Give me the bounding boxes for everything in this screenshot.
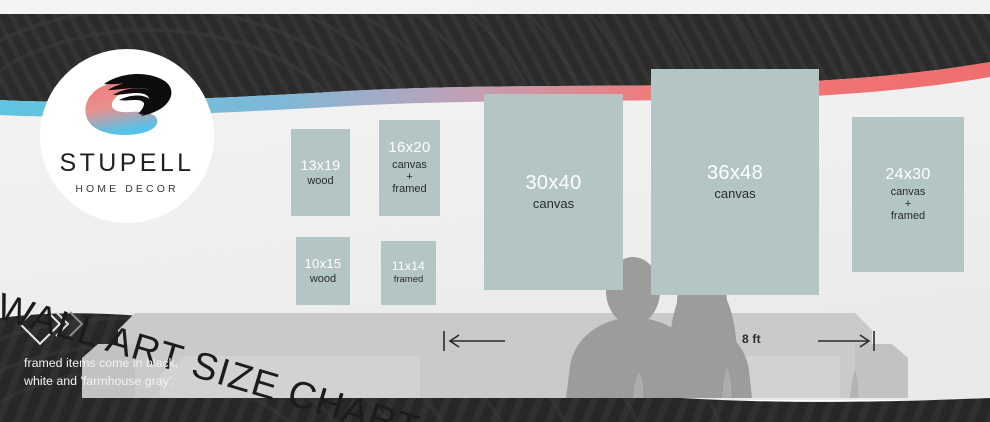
frame-size-label: 24x30 — [885, 166, 930, 183]
frame-material-label: canvas — [714, 187, 755, 202]
stupell-swoosh-logo-icon — [75, 67, 179, 145]
footnote-text: framed items come in black, white and 'f… — [24, 355, 178, 390]
frame-size-label: 16x20 — [388, 140, 430, 156]
frame-size-label: 36x48 — [707, 163, 763, 185]
frame-size-label: 11x14 — [392, 260, 425, 273]
frame-swatch[interactable]: 30x40canvas — [484, 94, 623, 290]
frame-size-label: 30x40 — [526, 173, 582, 195]
frame-swatch[interactable]: 11x14framed — [381, 241, 436, 305]
frame-material-label: canvas — [533, 197, 574, 212]
frame-swatch[interactable]: 36x48canvas — [651, 69, 819, 295]
frame-material-label: wood — [310, 273, 336, 285]
frame-swatch[interactable]: 13x19wood — [291, 129, 350, 216]
frame-swatch[interactable]: 24x30canvas + framed — [852, 117, 964, 272]
frame-material-label: canvas + framed — [891, 186, 926, 223]
frame-material-label: framed — [394, 275, 424, 286]
brand-tagline: HOME DECOR — [75, 183, 178, 195]
frame-swatch[interactable]: 16x20canvas + framed — [379, 120, 440, 216]
frame-swatch[interactable]: 10x15wood — [296, 237, 350, 305]
dimension-label-8ft: 8 ft — [742, 332, 761, 346]
brand-logo-badge: STUPELL HOME DECOR — [40, 49, 214, 223]
sofa-arm-right — [855, 344, 908, 398]
frame-material-label: wood — [307, 175, 333, 187]
frame-size-label: 10x15 — [305, 257, 342, 271]
frame-material-label: canvas + framed — [392, 159, 427, 196]
brand-name: STUPELL — [60, 149, 195, 178]
frame-size-label: 13x19 — [301, 158, 341, 173]
wall-art-size-chart-infographic: 8 ft STUPELL HOME DECOR WALL ART SIZE CH… — [0, 0, 990, 422]
